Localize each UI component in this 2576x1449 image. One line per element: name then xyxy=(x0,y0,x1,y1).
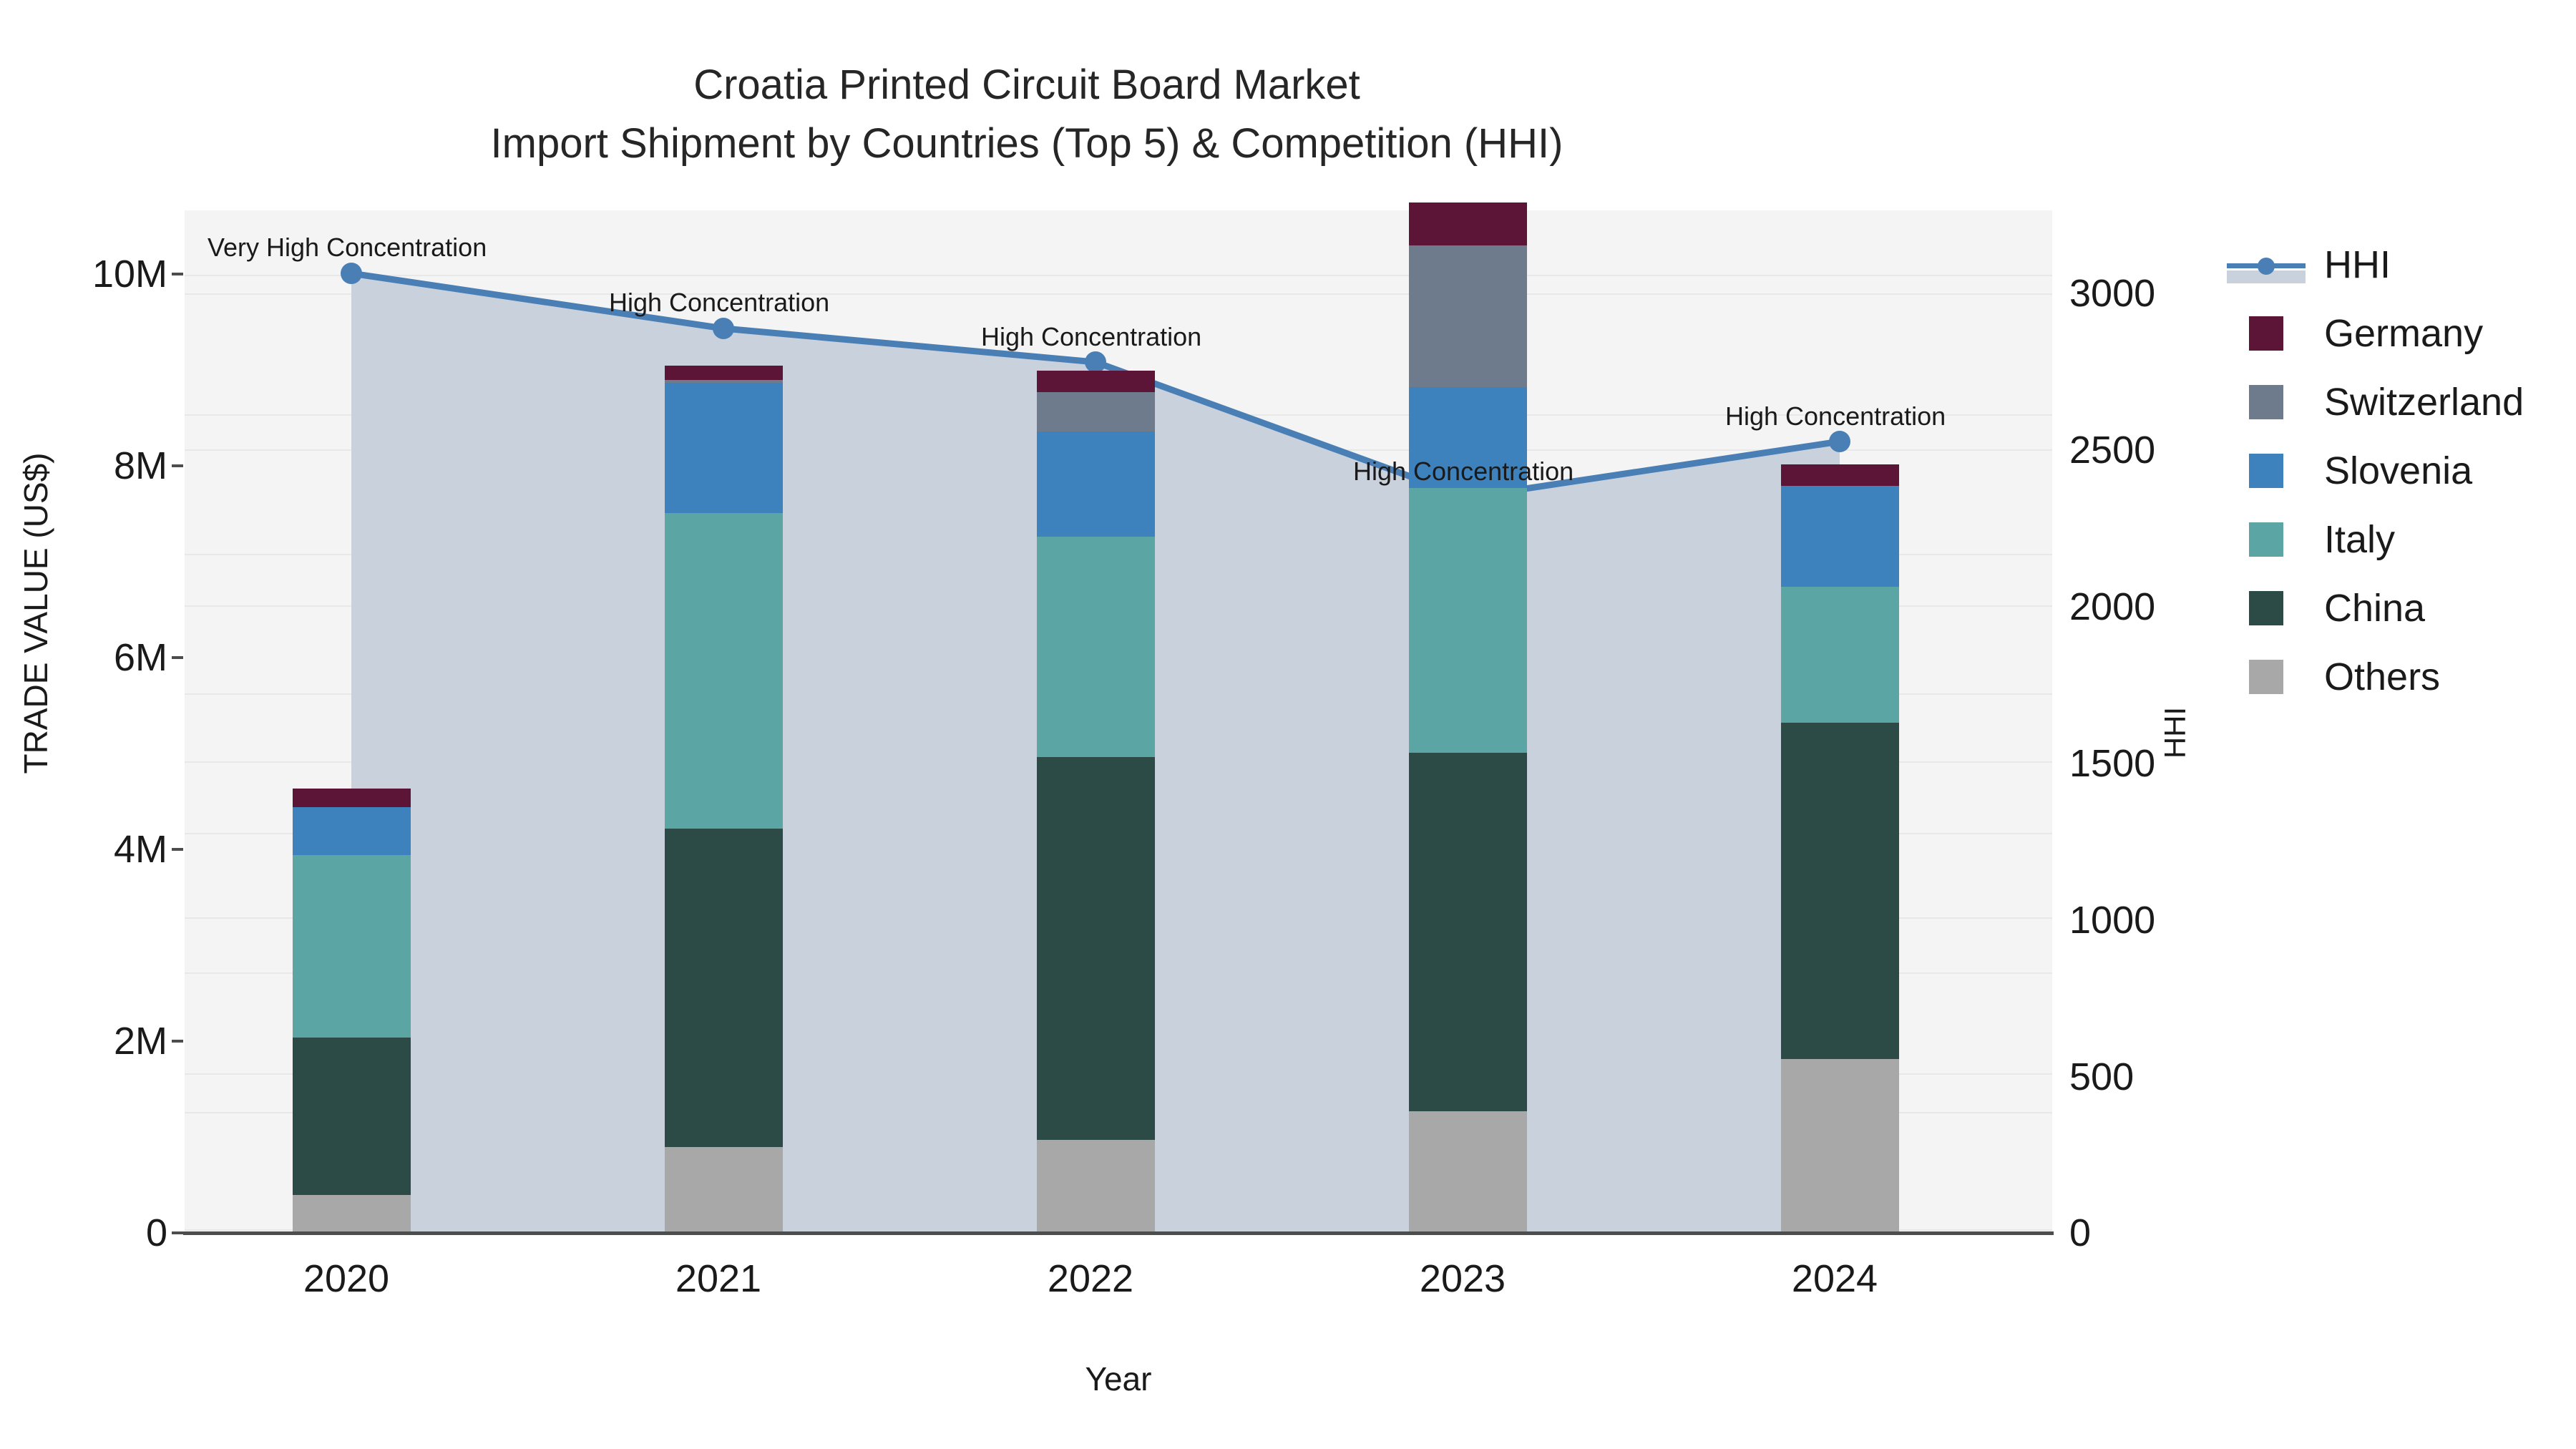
legend-item-china[interactable]: China xyxy=(2227,574,2524,643)
plot-inner xyxy=(185,210,2052,1233)
bar-2020[interactable] xyxy=(293,789,411,1233)
y-axis-tick-mark xyxy=(172,1040,183,1043)
x-axis-tick-2023: 2023 xyxy=(1355,1257,1570,1301)
hhi-point xyxy=(1829,431,1850,452)
bar-segment-germany[interactable] xyxy=(1037,371,1155,392)
y2-axis-tick-1000: 1000 xyxy=(2069,898,2155,942)
legend-item-slovenia[interactable]: Slovenia xyxy=(2227,436,2524,505)
bar-segment-others[interactable] xyxy=(1781,1059,1899,1233)
bar-segment-others[interactable] xyxy=(293,1195,411,1233)
plot-area xyxy=(185,210,2052,1233)
bar-segment-china[interactable] xyxy=(1037,757,1155,1140)
bar-segment-germany[interactable] xyxy=(1409,203,1527,245)
bar-segment-switzerland[interactable] xyxy=(1409,245,1527,387)
y2-axis-tick-1500: 1500 xyxy=(2069,741,2155,786)
legend: HHI Germany Switzerland Slovenia Italy xyxy=(2227,230,2524,711)
chart-figure: Croatia Printed Circuit Board Market Imp… xyxy=(0,0,2576,1449)
hhi-point xyxy=(1085,351,1106,373)
legend-label-china: China xyxy=(2324,586,2425,630)
bar-2021[interactable] xyxy=(665,366,783,1233)
legend-item-italy[interactable]: Italy xyxy=(2227,505,2524,574)
y-axis-tick-0: 0 xyxy=(17,1211,167,1255)
y-axis-tick-mark xyxy=(172,848,183,851)
y2-axis-tick-2000: 2000 xyxy=(2069,585,2155,629)
chart-title: Croatia Printed Circuit Board Market Imp… xyxy=(0,56,2054,174)
bar-segment-italy[interactable] xyxy=(1037,537,1155,757)
legend-label-others: Others xyxy=(2324,655,2440,699)
bar-segment-italy[interactable] xyxy=(1409,488,1527,753)
y-axis-tick-mark xyxy=(172,656,183,659)
annotation-2020: Very High Concentration xyxy=(208,233,487,263)
annotation-2023: High Concentration xyxy=(1353,457,1574,487)
china-swatch-icon xyxy=(2227,590,2306,627)
bar-segment-slovenia[interactable] xyxy=(293,807,411,856)
legend-item-others[interactable]: Others xyxy=(2227,643,2524,711)
y-axis-tick-mark xyxy=(172,1231,183,1234)
y2-axis-label: HHI xyxy=(2158,590,2192,876)
bar-segment-china[interactable] xyxy=(665,829,783,1147)
bar-segment-slovenia[interactable] xyxy=(1037,431,1155,537)
legend-item-germany[interactable]: Germany xyxy=(2227,299,2524,368)
germany-swatch-icon xyxy=(2227,315,2306,352)
others-swatch-icon xyxy=(2227,658,2306,696)
y2-axis-tick-2500: 2500 xyxy=(2069,428,2155,472)
bar-segment-italy[interactable] xyxy=(293,855,411,1038)
x-axis-tick-2024: 2024 xyxy=(1727,1257,1942,1301)
legend-label-switzerland: Switzerland xyxy=(2324,380,2524,424)
bar-segment-italy[interactable] xyxy=(665,513,783,829)
switzerland-swatch-icon xyxy=(2227,384,2306,421)
chart-title-line-2: Import Shipment by Countries (Top 5) & C… xyxy=(0,114,2054,173)
bar-segment-slovenia[interactable] xyxy=(1781,486,1899,587)
bar-2022[interactable] xyxy=(1037,371,1155,1233)
bar-segment-china[interactable] xyxy=(1781,723,1899,1059)
bar-segment-others[interactable] xyxy=(665,1147,783,1233)
bar-segment-others[interactable] xyxy=(1409,1111,1527,1233)
bar-2024[interactable] xyxy=(1781,464,1899,1233)
legend-item-switzerland[interactable]: Switzerland xyxy=(2227,368,2524,436)
y-axis-tick-10m: 10M xyxy=(17,252,167,296)
bar-segment-china[interactable] xyxy=(1409,753,1527,1111)
bar-segment-others[interactable] xyxy=(1037,1140,1155,1233)
x-axis-label: Year xyxy=(185,1360,2052,1398)
hhi-line-icon xyxy=(2227,246,2306,283)
bar-segment-germany[interactable] xyxy=(665,366,783,380)
bar-segment-italy[interactable] xyxy=(1781,587,1899,723)
annotation-2024: High Concentration xyxy=(1725,401,1946,431)
y-axis-label: TRADE VALUE (US$) xyxy=(16,291,55,935)
x-axis-tick-2021: 2021 xyxy=(611,1257,826,1301)
bar-segment-slovenia[interactable] xyxy=(665,383,783,513)
y2-axis-tick-0: 0 xyxy=(2069,1211,2091,1255)
y2-axis-tick-3000: 3000 xyxy=(2069,271,2155,316)
legend-label-slovenia: Slovenia xyxy=(2324,449,2472,493)
chart-title-line-1: Croatia Printed Circuit Board Market xyxy=(0,56,2054,114)
y2-axis-tick-500: 500 xyxy=(2069,1055,2134,1099)
bar-segment-germany[interactable] xyxy=(1781,464,1899,486)
legend-label-italy: Italy xyxy=(2324,517,2395,562)
y-axis-tick-mark xyxy=(172,273,183,275)
y-axis-tick-2m: 2M xyxy=(17,1019,167,1063)
legend-item-hhi[interactable]: HHI xyxy=(2227,230,2524,299)
italy-swatch-icon xyxy=(2227,521,2306,558)
x-axis-tick-2022: 2022 xyxy=(983,1257,1198,1301)
bar-2023[interactable] xyxy=(1409,203,1527,1233)
hhi-point xyxy=(341,263,362,284)
bar-segment-switzerland[interactable] xyxy=(1037,392,1155,431)
legend-label-hhi: HHI xyxy=(2324,243,2391,287)
annotation-2022: High Concentration xyxy=(981,322,1201,352)
x-axis-line xyxy=(183,1231,2054,1235)
legend-label-germany: Germany xyxy=(2324,311,2483,356)
bar-segment-germany[interactable] xyxy=(293,789,411,807)
slovenia-swatch-icon xyxy=(2227,452,2306,489)
y-axis-tick-mark xyxy=(172,464,183,467)
hhi-point xyxy=(713,318,734,339)
x-axis-tick-2020: 2020 xyxy=(239,1257,454,1301)
annotation-2021: High Concentration xyxy=(609,288,829,318)
bar-segment-china[interactable] xyxy=(293,1038,411,1195)
